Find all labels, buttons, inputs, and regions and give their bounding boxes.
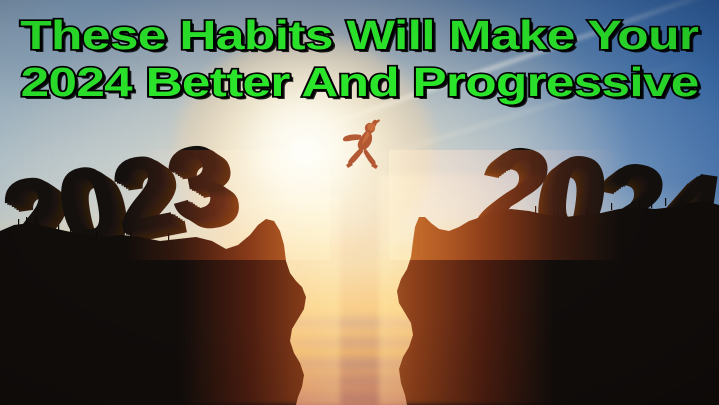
cliff-left [0,175,330,405]
headline-line-2: 2024 Better And Progressive [21,59,699,106]
headline-block: These Habits Will Make Your 2024 Better … [0,12,719,106]
running-jumping-person-silhouette-icon [330,118,390,180]
headline-line-1: These Habits Will Make Your [20,12,698,59]
poster-canvas: 2023 2024 [0,0,719,405]
cliff-right [389,165,719,405]
